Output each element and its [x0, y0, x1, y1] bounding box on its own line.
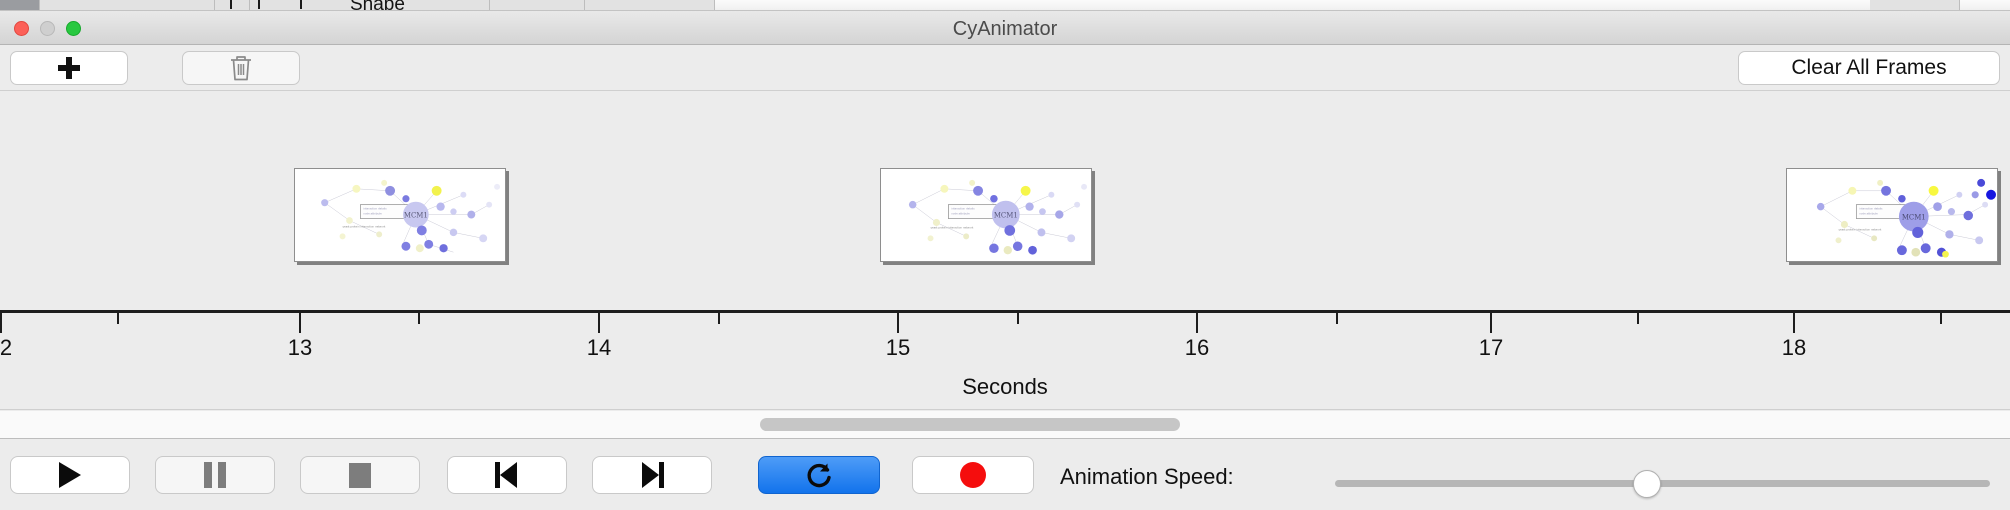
axis-tick-label: 18: [1782, 335, 1806, 361]
network-thumbnail-3: interaction details node attribute yeast…: [1787, 169, 1997, 262]
axis-tick-minor: [1940, 313, 1942, 324]
playback-bar: Animation Speed:: [0, 440, 2010, 510]
axis-tick-label: 2: [0, 335, 12, 361]
axis-title: Seconds: [0, 374, 2010, 400]
timeline-axis: [0, 310, 2010, 313]
timeline-frame-1[interactable]: interaction details node attribute yeast…: [294, 168, 506, 262]
timeline-frame-3[interactable]: interaction details node attribute yeast…: [1786, 168, 1998, 262]
axis-tick-label: 16: [1185, 335, 1209, 361]
animation-speed-thumb[interactable]: [1633, 470, 1661, 498]
window-title: CyAnimator: [0, 18, 2010, 41]
axis-tick-label: 14: [587, 335, 611, 361]
axis-tick-minor: [1017, 313, 1019, 324]
background-window-strip: Shape: [0, 0, 2010, 11]
animation-speed-slider[interactable]: [1335, 480, 1990, 487]
svg-text:MCM1: MCM1: [994, 212, 1018, 220]
plus-icon: [58, 57, 80, 79]
bg-tab-6: [490, 0, 585, 11]
delete-frame-button[interactable]: [182, 51, 300, 85]
svg-text:yeast protein interaction netw: yeast protein interaction network: [931, 225, 974, 229]
svg-text:node attribute: node attribute: [951, 212, 970, 216]
bg-tab-8: [1870, 0, 1960, 11]
skip-to-start-button[interactable]: [447, 456, 567, 494]
axis-tick-minor: [1637, 313, 1639, 324]
axis-tick-label: 17: [1479, 335, 1503, 361]
bg-tab-7: [585, 0, 715, 11]
clear-all-frames-label: Clear All Frames: [1791, 56, 1946, 80]
axis-tick-minor: [117, 313, 119, 324]
axis-tick-major: [1196, 313, 1198, 333]
axis-tick-major: [1490, 313, 1492, 333]
pause-button[interactable]: [155, 456, 275, 494]
axis-tick-minor: [1336, 313, 1338, 324]
skip-backward-icon: [495, 462, 519, 488]
bg-window-label: Shape: [350, 0, 405, 11]
cyanimator-window: Shape CyAnimator Clear All Frames: [0, 0, 2010, 510]
loop-button[interactable]: [758, 456, 880, 494]
svg-text:yeast protein interaction netw: yeast protein interaction network: [343, 224, 386, 228]
skip-to-end-button[interactable]: [592, 456, 712, 494]
skip-forward-icon: [640, 462, 664, 488]
record-button[interactable]: [912, 456, 1034, 494]
network-thumbnail-2: interaction details node attribute yeast…: [881, 169, 1091, 262]
axis-tick-major: [1793, 313, 1795, 333]
bg-tab-1: [0, 0, 40, 11]
svg-text:MCM1: MCM1: [404, 212, 428, 220]
network-thumbnail-1: interaction details node attribute yeast…: [295, 169, 505, 262]
bg-tab-2: [40, 0, 215, 11]
timeline-frame-2[interactable]: interaction details node attribute yeast…: [880, 168, 1092, 262]
pause-icon: [204, 462, 226, 488]
svg-text:MCM1: MCM1: [1902, 214, 1926, 222]
bg-tick-1: [230, 0, 232, 9]
axis-tick-major: [0, 313, 2, 333]
axis-tick-major: [897, 313, 899, 333]
scrollbar-thumb[interactable]: [760, 418, 1180, 431]
toolbar: Clear All Frames: [0, 45, 2010, 91]
timeline-scrollbar[interactable]: [0, 411, 2010, 439]
svg-text:node attribute: node attribute: [1859, 212, 1878, 216]
axis-tick-major: [299, 313, 301, 333]
axis-tick-major: [598, 313, 600, 333]
svg-text:interaction details: interaction details: [363, 207, 387, 211]
stop-button[interactable]: [300, 456, 420, 494]
add-frame-button[interactable]: [10, 51, 128, 85]
loop-icon: [804, 460, 834, 490]
play-button[interactable]: [10, 456, 130, 494]
clear-all-frames-button[interactable]: Clear All Frames: [1738, 51, 2000, 85]
svg-text:node attribute: node attribute: [363, 212, 382, 216]
svg-text:interaction details: interaction details: [951, 207, 975, 211]
svg-text:yeast protein interaction netw: yeast protein interaction network: [1839, 227, 1882, 231]
bg-tick-3: [300, 0, 302, 9]
svg-text:interaction details: interaction details: [1859, 207, 1883, 211]
axis-tick-minor: [718, 313, 720, 324]
title-bar: CyAnimator: [0, 11, 2010, 45]
trash-icon: [228, 54, 254, 82]
play-icon: [59, 462, 81, 488]
record-icon: [960, 462, 986, 488]
timeline-panel[interactable]: interaction details node attribute yeast…: [0, 92, 2010, 410]
animation-speed-label: Animation Speed:: [1060, 464, 1234, 490]
axis-tick-label: 13: [288, 335, 312, 361]
stop-icon: [349, 463, 371, 488]
axis-tick-label: 15: [886, 335, 910, 361]
axis-tick-minor: [418, 313, 420, 324]
bg-tick-2: [258, 0, 260, 9]
bg-tab-3: [215, 0, 250, 11]
